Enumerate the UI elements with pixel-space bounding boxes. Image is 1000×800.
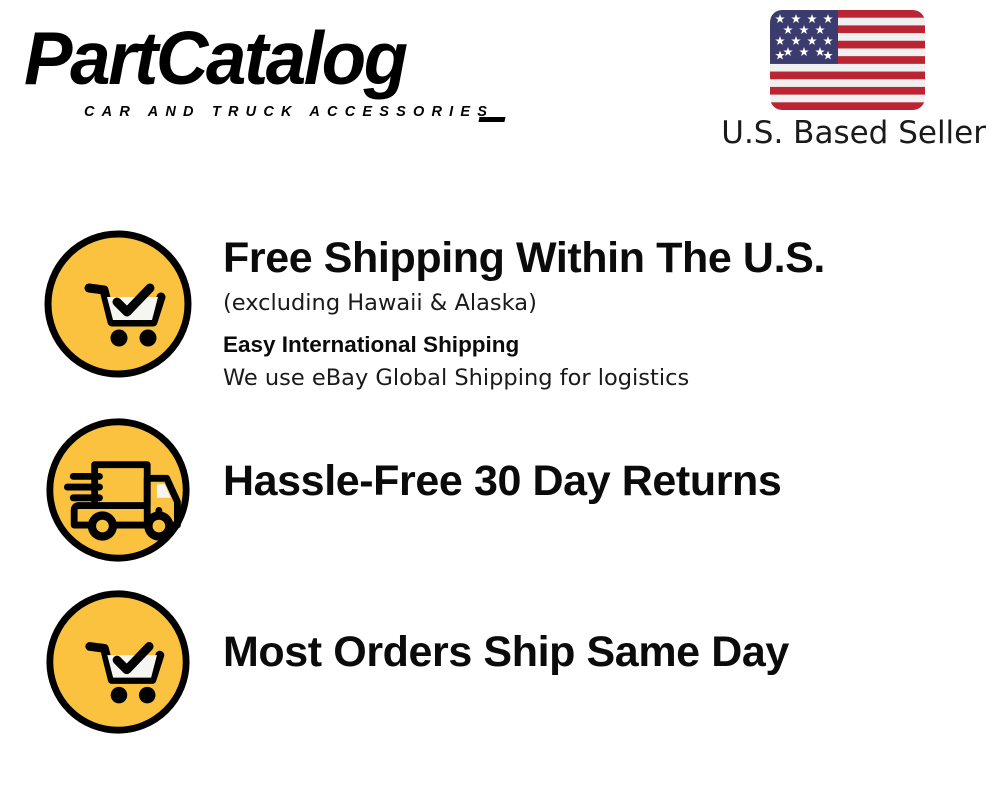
feature-secondary-heading: Easy International Shipping: [223, 329, 825, 361]
feature-icon-wrapper: [42, 228, 194, 380]
feature-title: Most Orders Ship Same Day: [223, 626, 789, 678]
brand-tagline: CAR AND TRUCK ACCESSORIES: [84, 104, 494, 120]
cart-check-icon: [42, 588, 194, 736]
feature-item-same-day-ship: Most Orders Ship Same Day: [0, 588, 1000, 736]
feature-icon-wrapper: [42, 588, 194, 736]
feature-title: Hassle-Free 30 Day Returns: [223, 455, 781, 507]
delivery-truck-icon: [42, 416, 194, 564]
feature-icon-wrapper: [42, 416, 194, 564]
feature-text-block: Most Orders Ship Same Day: [194, 588, 789, 678]
brand-tagline-rule: [478, 117, 505, 122]
brand-wordmark: PartCatalog: [24, 14, 406, 102]
feature-text-block: Free Shipping Within The U.S. (excluding…: [194, 228, 825, 394]
brand-logo[interactable]: PartCatalog CAR AND TRUCK ACCESSORIES: [24, 18, 504, 116]
page-header: PartCatalog CAR AND TRUCK ACCESSORIES: [0, 0, 1000, 175]
us-based-seller-badge: U.S. Based Seller: [702, 10, 992, 152]
feature-secondary-note: We use eBay Global Shipping for logistic…: [223, 362, 825, 394]
us-flag-icon: [770, 10, 925, 110]
feature-title: Free Shipping Within The U.S.: [223, 232, 825, 284]
feature-subtitle: (excluding Hawaii & Alaska): [223, 287, 825, 319]
cart-check-icon: [42, 228, 194, 380]
feature-item-returns: Hassle-Free 30 Day Returns: [0, 416, 1000, 564]
feature-item-free-shipping: Free Shipping Within The U.S. (excluding…: [0, 228, 1000, 394]
feature-text-block: Hassle-Free 30 Day Returns: [194, 416, 781, 507]
seller-caption: U.S. Based Seller: [702, 114, 992, 152]
